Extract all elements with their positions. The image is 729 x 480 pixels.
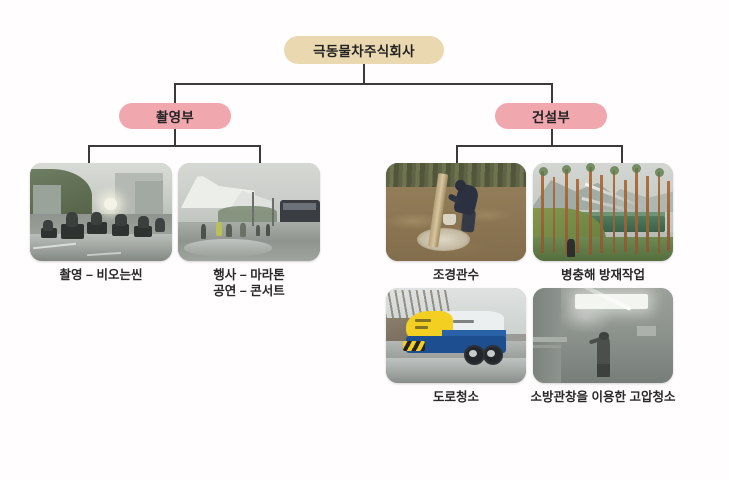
root-node-company[interactable]: 극동물차주식회사 (284, 36, 444, 64)
connector-root-bus (174, 83, 552, 85)
card-event-marathon[interactable]: 행사 – 마라톤 공연 – 콘서트 (178, 163, 320, 261)
caption-line: 공연 – 콘서트 (213, 283, 284, 299)
connector-filming-stem (174, 129, 176, 146)
caption-line: 소방관창을 이용한 고압청소 (531, 389, 676, 405)
department-node-filming[interactable]: 촬영부 (119, 103, 231, 129)
connector-construction-child-1 (621, 145, 623, 163)
photo-high-pressure-water-jet (533, 288, 673, 383)
department-label-filming: 촬영부 (156, 106, 194, 126)
card-rain-scene[interactable]: 촬영 – 비오는씬 (30, 163, 172, 261)
card-road-cleaning[interactable]: 도로청소 (386, 288, 526, 383)
caption-line: 도로청소 (433, 389, 479, 405)
photo-tree-planting-watering (386, 163, 526, 261)
connector-filming-child-0 (88, 145, 90, 163)
caption-line: 촬영 – 비오는씬 (60, 267, 143, 283)
caption-rain-scene: 촬영 – 비오는씬 (60, 267, 143, 283)
card-landscape-watering[interactable]: 조경관수 (386, 163, 526, 261)
caption-line: 조경관수 (433, 267, 479, 283)
org-chart: 극동물차주식회사 촬영부 건설부 (0, 0, 729, 480)
connector-construction-bus (456, 145, 622, 147)
root-node-label: 극동물차주식회사 (313, 40, 415, 60)
connector-root-stem (363, 64, 365, 84)
connector-construction-stem (551, 129, 553, 146)
caption-landscape-watering: 조경관수 (433, 267, 479, 283)
caption-line: 병충해 방재작업 (561, 267, 645, 283)
photo-rainy-street-motorcycles (30, 163, 172, 261)
caption-line: 행사 – 마라톤 (213, 267, 284, 283)
connector-filming-bus (88, 145, 260, 147)
connector-to-filming (174, 83, 176, 104)
department-node-construction[interactable]: 건설부 (495, 103, 607, 129)
card-pest-control[interactable]: 병충해 방재작업 (533, 163, 673, 261)
connector-construction-child-0 (456, 145, 458, 163)
department-label-construction: 건설부 (532, 106, 570, 126)
card-high-pressure-cleaning[interactable]: 소방관창을 이용한 고압청소 (533, 288, 673, 383)
connector-filming-child-1 (259, 145, 261, 163)
caption-high-pressure-cleaning: 소방관창을 이용한 고압청소 (531, 389, 676, 405)
photo-marathon-event-tent (178, 163, 320, 261)
caption-event-marathon: 행사 – 마라톤 공연 – 콘서트 (213, 267, 284, 299)
caption-road-cleaning: 도로청소 (433, 389, 479, 405)
photo-water-tanker-truck (386, 288, 526, 383)
caption-pest-control: 병충해 방재작업 (561, 267, 645, 283)
photo-pine-forest-spraying (533, 163, 673, 261)
connector-to-construction (551, 83, 553, 104)
